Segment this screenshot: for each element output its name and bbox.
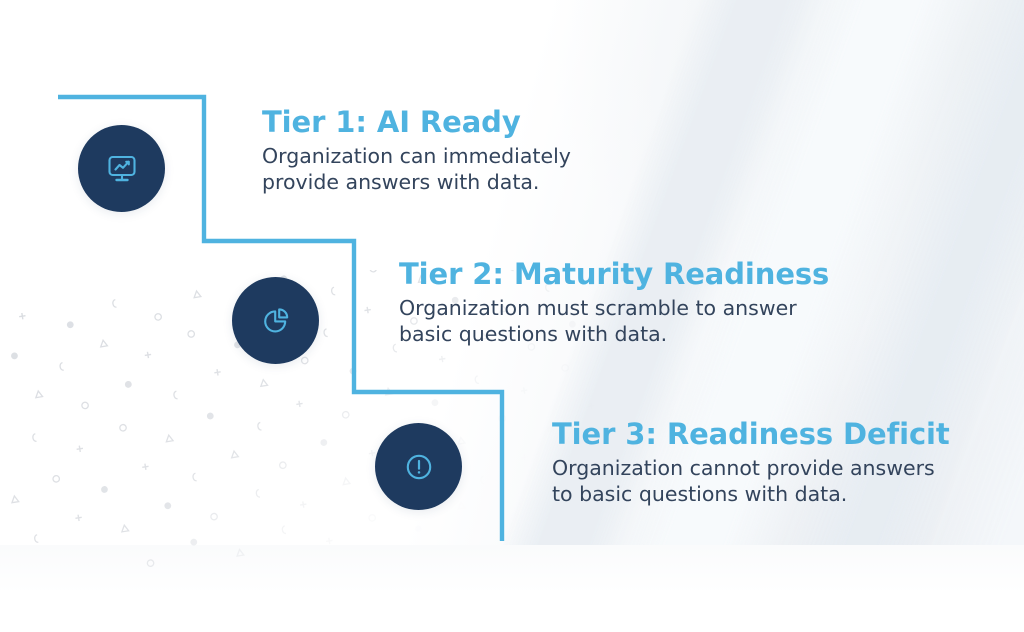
tier-1-copy: Tier 1: AI Ready Organization can immedi…: [262, 105, 571, 195]
tier-3-title: Tier 3: Readiness Deficit: [552, 417, 950, 451]
monitor-chart-icon: [102, 149, 142, 189]
tier-row-1: Tier 1: AI Ready Organization can immedi…: [78, 105, 571, 212]
background-lower-fade: [0, 545, 1024, 632]
diagram-canvas: Tier 1: AI Ready Organization can immedi…: [0, 0, 1024, 632]
tier-2-copy: Tier 2: Maturity Readiness Organization …: [399, 257, 829, 347]
tier-3-badge: [375, 423, 462, 510]
tier-3-description: Organization cannot provide answers to b…: [552, 455, 950, 507]
alert-circle-icon: [399, 447, 439, 487]
tier-2-description: Organization must scramble to answer bas…: [399, 295, 829, 347]
tier-2-badge: [232, 277, 319, 364]
tier-3-copy: Tier 3: Readiness Deficit Organization c…: [552, 417, 950, 507]
tier-1-badge: [78, 125, 165, 212]
pie-chart-icon: [256, 301, 296, 341]
tier-row-3: Tier 3: Readiness Deficit Organization c…: [375, 417, 950, 510]
tier-row-2: Tier 2: Maturity Readiness Organization …: [232, 257, 829, 364]
tier-1-description: Organization can immediately provide ans…: [262, 143, 571, 195]
tier-1-title: Tier 1: AI Ready: [262, 105, 571, 139]
tier-2-title: Tier 2: Maturity Readiness: [399, 257, 829, 291]
